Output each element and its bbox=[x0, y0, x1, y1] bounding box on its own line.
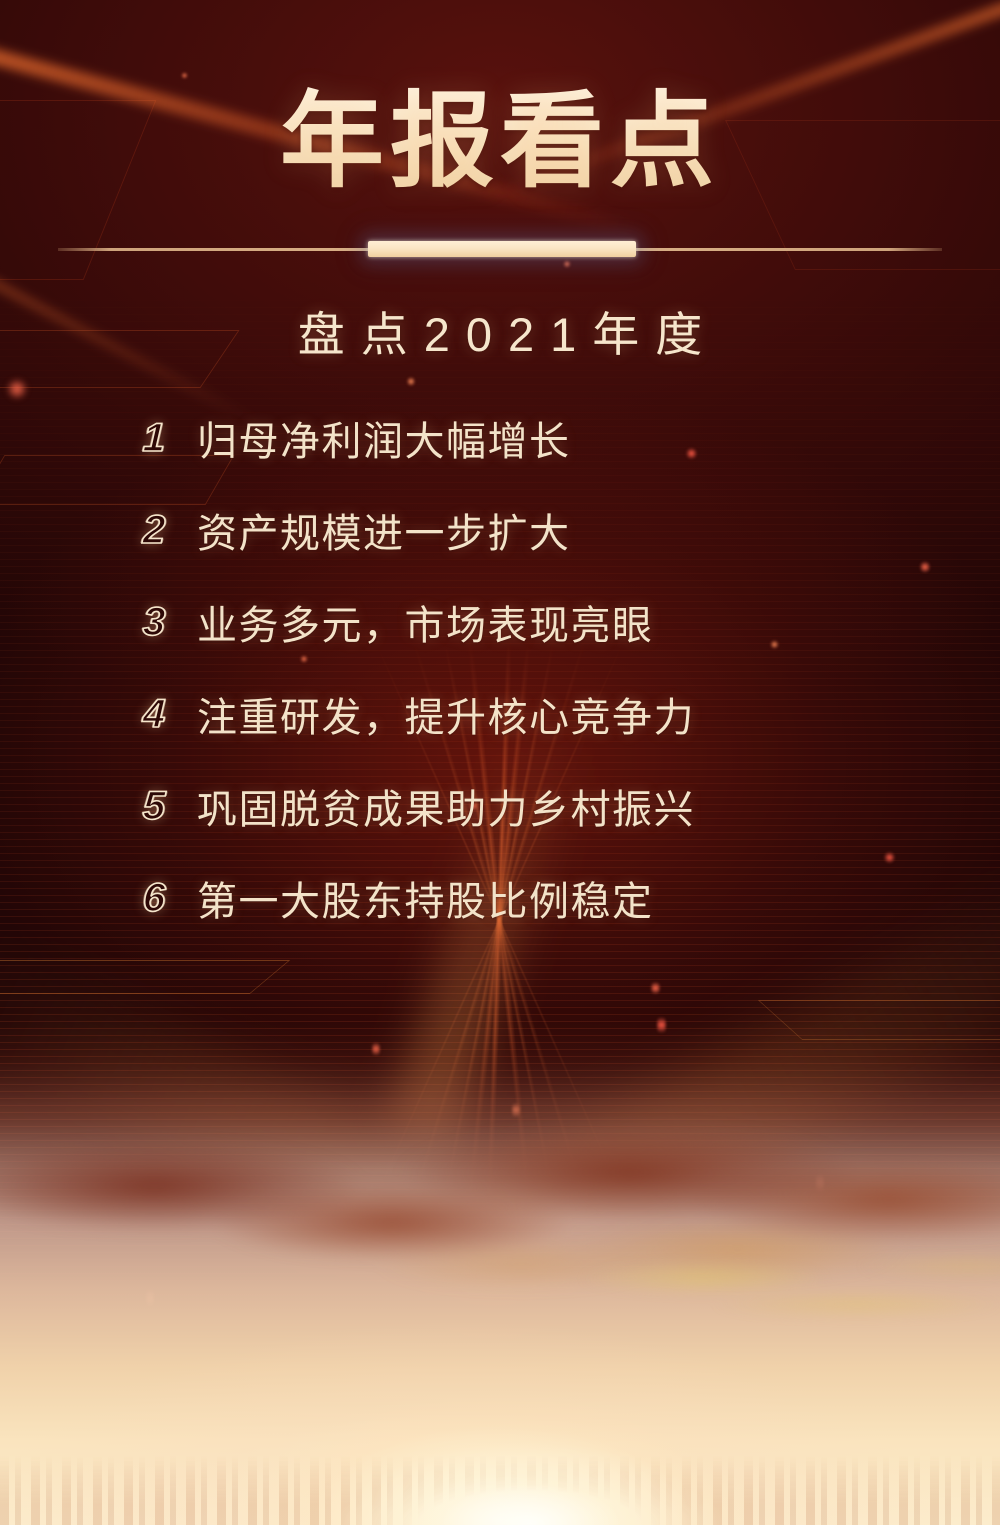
page-subtitle: 盘点2021年度 bbox=[0, 296, 1000, 365]
list-item: 1 归母净利润大幅增长 bbox=[0, 392, 1000, 484]
annual-report-highlights-poster: 年报看点 盘点2021年度 1 归母净利润大幅增长 2 资产规模进一步扩大 3 … bbox=[0, 0, 1000, 1525]
title-divider bbox=[0, 236, 1000, 266]
list-item-number-glyph: 2 bbox=[142, 508, 166, 553]
list-item-label: 资产规模进一步扩大 bbox=[197, 501, 571, 559]
list-item: 6 第一大股东持股比例稳定 bbox=[0, 852, 1000, 944]
poster-content: 年报看点 盘点2021年度 1 归母净利润大幅增长 2 资产规模进一步扩大 3 … bbox=[0, 0, 1000, 1525]
highlights-list: 1 归母净利润大幅增长 2 资产规模进一步扩大 3 业务多元，市场表现亮眼 4 … bbox=[0, 392, 1000, 944]
list-item-label: 巩固脱贫成果助力乡村振兴 bbox=[197, 777, 695, 835]
list-item-number: 6 bbox=[127, 876, 181, 921]
list-item-label: 业务多元，市场表现亮眼 bbox=[197, 593, 654, 651]
list-item: 3 业务多元，市场表现亮眼 bbox=[0, 576, 1000, 668]
list-item-label: 注重研发，提升核心竞争力 bbox=[197, 685, 695, 743]
list-item-number-glyph: 1 bbox=[142, 416, 166, 461]
list-item-number-glyph: 3 bbox=[142, 600, 166, 645]
list-item-label: 第一大股东持股比例稳定 bbox=[197, 869, 654, 927]
list-item-label: 归母净利润大幅增长 bbox=[197, 409, 571, 467]
page-title: 年报看点 bbox=[0, 86, 1000, 198]
list-item-number: 5 bbox=[127, 784, 181, 829]
divider-accent-bar bbox=[368, 241, 636, 257]
list-item-number: 4 bbox=[127, 692, 181, 737]
list-item-number-glyph: 5 bbox=[142, 784, 166, 829]
list-item-number-glyph: 4 bbox=[142, 692, 166, 737]
list-item-number: 3 bbox=[127, 600, 181, 645]
list-item: 4 注重研发，提升核心竞争力 bbox=[0, 668, 1000, 760]
list-item-number-glyph: 6 bbox=[142, 876, 166, 921]
list-item: 5 巩固脱贫成果助力乡村振兴 bbox=[0, 760, 1000, 852]
list-item-number: 1 bbox=[127, 416, 181, 461]
list-item-number: 2 bbox=[127, 508, 181, 553]
list-item: 2 资产规模进一步扩大 bbox=[0, 484, 1000, 576]
